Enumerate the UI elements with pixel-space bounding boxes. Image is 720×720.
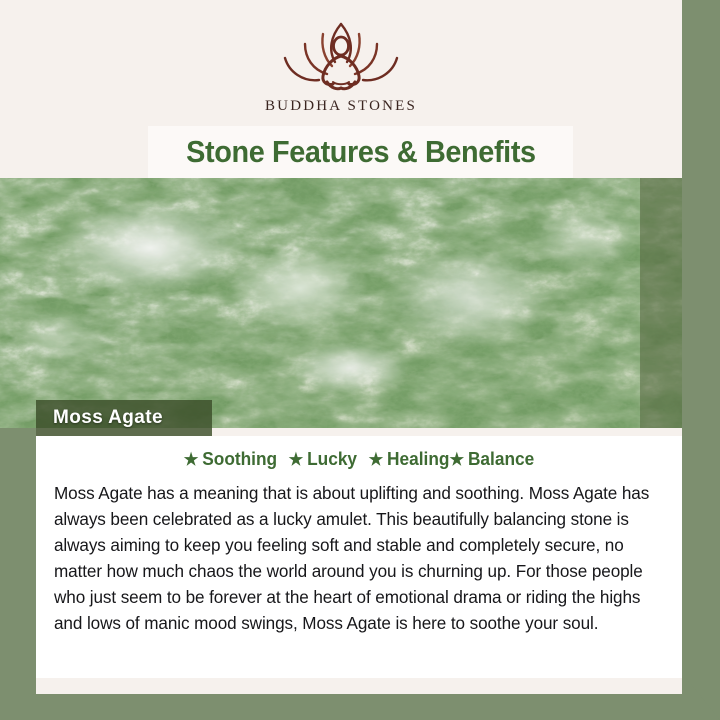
benefit-item: ★ Lucky bbox=[289, 449, 369, 470]
benefit-label: Balance bbox=[468, 449, 534, 470]
right-accent-band bbox=[682, 0, 720, 720]
benefit-label: Healing bbox=[387, 449, 449, 470]
brand-name: BUDDHA STONES bbox=[265, 98, 417, 115]
moss-agate-photo bbox=[0, 178, 682, 428]
moss-agate-texture-icon bbox=[0, 178, 682, 428]
benefit-label: Lucky bbox=[307, 449, 357, 470]
star-icon: ★ bbox=[289, 451, 304, 468]
content-card: ★ Soothing ★ Lucky ★ Healing ★ Balance M… bbox=[36, 436, 682, 678]
header-panel: BUDDHA STONES Stone Features & Benefits bbox=[0, 0, 682, 178]
benefit-item: ★ Soothing bbox=[184, 449, 289, 470]
title-banner: Stone Features & Benefits bbox=[148, 126, 573, 178]
stone-name-label: Moss Agate bbox=[53, 407, 163, 429]
brand-logo: BUDDHA STONES bbox=[0, 16, 682, 115]
page-title: Stone Features & Benefits bbox=[186, 134, 536, 170]
benefit-item: ★ Balance bbox=[449, 449, 534, 470]
card-footer-strip bbox=[36, 678, 682, 694]
benefit-label: Soothing bbox=[202, 449, 277, 470]
lotus-meditation-icon bbox=[261, 16, 421, 94]
stone-description: Moss Agate has a meaning that is about u… bbox=[54, 480, 655, 636]
star-icon: ★ bbox=[449, 451, 464, 468]
infographic-page: Moss Agate bbox=[0, 0, 720, 720]
benefits-row: ★ Soothing ★ Lucky ★ Healing ★ Balance bbox=[49, 442, 669, 476]
star-icon: ★ bbox=[184, 451, 199, 468]
star-icon: ★ bbox=[369, 451, 384, 468]
stone-name-banner: Moss Agate bbox=[36, 400, 212, 436]
benefit-item: ★ Healing bbox=[369, 449, 450, 470]
